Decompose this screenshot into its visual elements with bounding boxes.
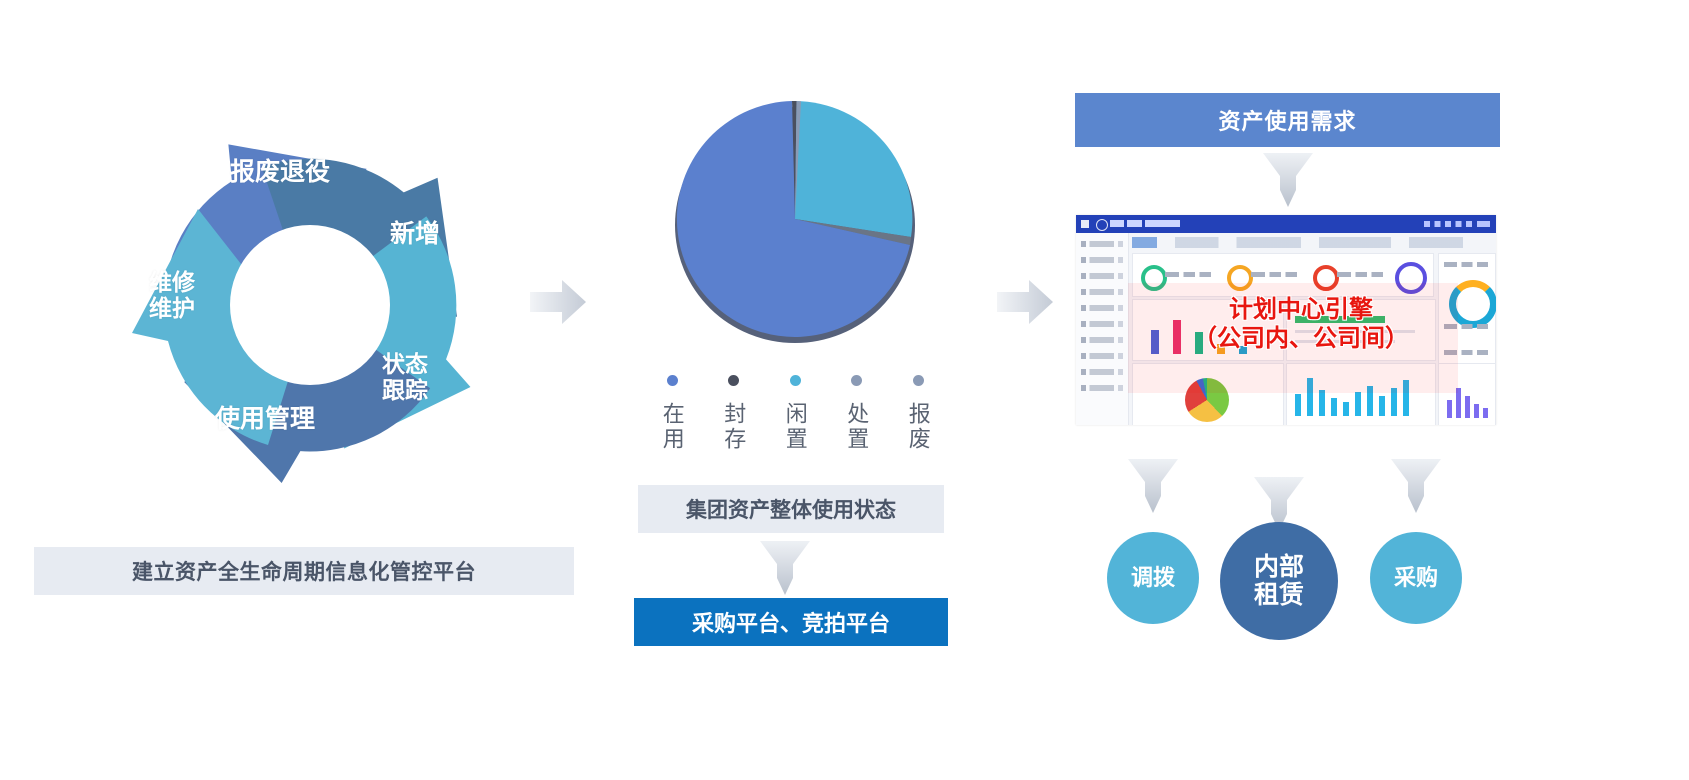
outcome-label-transfer: 调拨	[1131, 566, 1175, 591]
cycle-caption-banner: 建立资产全生命周期信息化管控平台	[34, 547, 574, 595]
legend-dot-icon-1	[728, 375, 739, 386]
dashboard-sidebar-item[interactable]	[1081, 321, 1123, 327]
dashboard-sidebar-item[interactable]	[1081, 369, 1123, 375]
connector-arrow-right-1	[528, 272, 588, 332]
outcome-circle-transfer[interactable]: 调拨	[1107, 532, 1199, 624]
asset-demand-banner: 资产使用需求	[1075, 93, 1500, 147]
cycle-hub	[230, 225, 390, 385]
outcome-label-lease-line2: 租赁	[1254, 581, 1304, 609]
legend-label-2: 闲置	[781, 402, 809, 452]
legend-dot-icon-4	[913, 375, 924, 386]
mini-bar	[1331, 398, 1337, 416]
kpi-label	[1165, 272, 1211, 277]
connector-arrow-down-purchase	[1390, 458, 1442, 514]
dashboard-tabbar[interactable]	[1132, 237, 1492, 248]
dashboard-sidebar-item[interactable]	[1081, 385, 1123, 391]
pie-slice-idle	[795, 101, 912, 237]
connector-arrow-right-2	[995, 272, 1055, 332]
dashboard-brand-icon	[1096, 219, 1108, 231]
cycle-caption-text: 建立资产全生命周期信息化管控平台	[132, 556, 476, 586]
dashboard-sidebar-item[interactable]	[1081, 273, 1123, 279]
plan-center-highlight-overlay	[1128, 283, 1458, 393]
cycle-diagram-svg	[110, 110, 510, 500]
legend-dot-icon-0	[667, 375, 678, 386]
mini-bar	[1319, 390, 1325, 416]
kpi-label	[1337, 272, 1383, 277]
dashboard-sidebar-item[interactable]	[1081, 353, 1123, 359]
legend-label-4: 报废	[904, 402, 932, 452]
pie-chart	[675, 85, 915, 350]
legend-dot-icon-3	[851, 375, 862, 386]
outcome-label-purchase: 采购	[1394, 566, 1438, 591]
pie-chart-svg	[675, 85, 915, 350]
legend-item-3: 处置	[835, 375, 879, 457]
legend-label-3: 处置	[843, 402, 871, 452]
dashboard-sidebar-item[interactable]	[1081, 305, 1123, 311]
legend-item-0: 在用	[650, 375, 694, 457]
dashboard-sidebar-item[interactable]	[1081, 337, 1123, 343]
legend-label-1: 封存	[720, 402, 748, 452]
dashboard-sidebar-item[interactable]	[1081, 289, 1123, 295]
asset-demand-flow-panel: 资产使用需求	[1070, 90, 1520, 650]
mini-bar	[1474, 404, 1479, 418]
asset-status-pie-panel: 在用 封存 闲置 处置 报废 集团资产整体使用状态	[630, 85, 960, 655]
pie-caption-text: 集团资产整体使用状态	[686, 494, 896, 524]
legend-item-1: 封存	[712, 375, 756, 457]
legend-item-4: 报废	[896, 375, 940, 457]
purchase-auction-platform-text: 采购平台、竞拍平台	[692, 606, 890, 638]
asset-lifecycle-cycle: 报废退役 新增 状态 跟踪 使用管理 维修 维护	[110, 110, 510, 500]
dashboard-brand-text	[1110, 220, 1180, 227]
legend-dot-icon-2	[790, 375, 801, 386]
outcome-label-lease-line1: 内部	[1254, 553, 1304, 581]
dashboard-sidebar-item[interactable]	[1081, 257, 1123, 263]
dashboard-sidebar-item[interactable]	[1081, 241, 1123, 247]
infographic-canvas: 报废退役 新增 状态 跟踪 使用管理 维修 维护 建立资产全生命周期信息化管控平…	[0, 0, 1689, 780]
pie-legend: 在用 封存 闲置 处置 报废	[650, 375, 940, 457]
legend-label-0: 在用	[658, 402, 686, 452]
right-card-line	[1444, 262, 1488, 267]
mini-bar	[1295, 394, 1301, 416]
mini-bar	[1343, 402, 1349, 416]
dashboard-window-controls[interactable]	[1424, 221, 1490, 227]
dashboard-sidebar[interactable]	[1076, 233, 1129, 425]
kpi-label	[1251, 272, 1297, 277]
plan-center-dashboard-screenshot[interactable]: 计划中心引擎 （公司内、公司间）	[1076, 215, 1496, 425]
pie-caption-banner: 集团资产整体使用状态	[638, 485, 944, 533]
connector-arrow-down-top	[1262, 152, 1314, 208]
connector-arrow-down-transfer	[1127, 458, 1179, 514]
asset-demand-text: 资产使用需求	[1218, 104, 1356, 136]
outcome-circle-purchase[interactable]: 采购	[1370, 532, 1462, 624]
mini-bar	[1355, 392, 1361, 416]
outcome-circle-internal-lease[interactable]: 内部 租赁	[1220, 522, 1338, 640]
connector-arrow-down-pie	[759, 540, 811, 596]
dashboard-menu-icon	[1081, 220, 1089, 228]
mini-bar	[1465, 396, 1470, 418]
legend-item-2: 闲置	[773, 375, 817, 457]
mini-bar	[1447, 400, 1452, 418]
mini-bar	[1379, 396, 1385, 416]
mini-bar	[1483, 408, 1488, 418]
purchase-auction-platform-bar: 采购平台、竞拍平台	[634, 598, 948, 646]
